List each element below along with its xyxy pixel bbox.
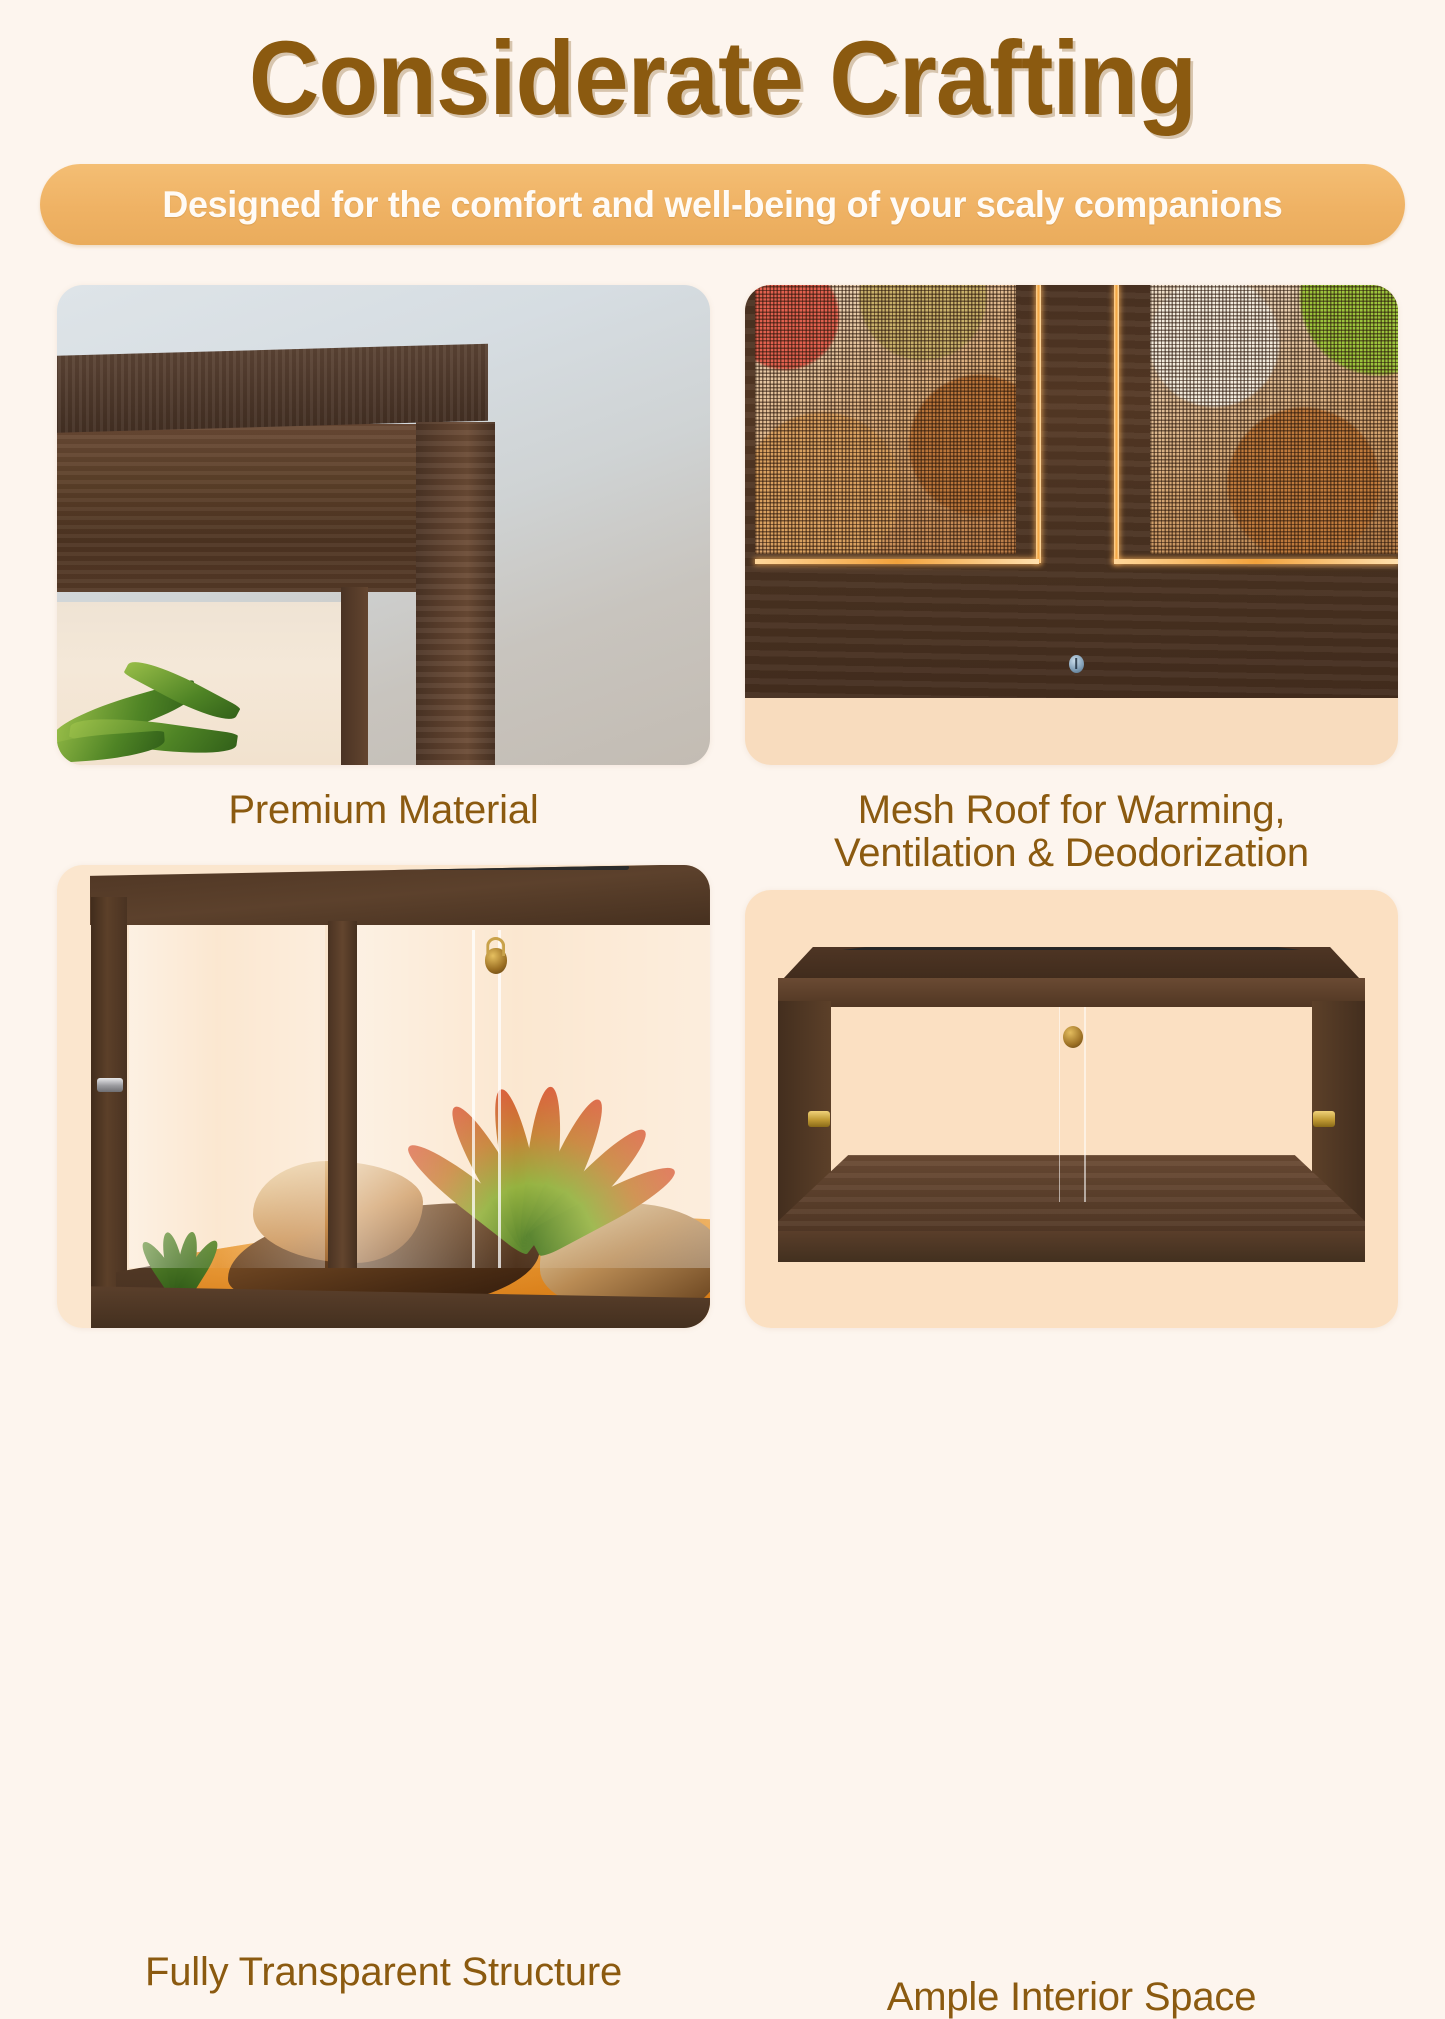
screw-icon — [1069, 655, 1084, 673]
page-title: Considerate Crafting — [51, 26, 1395, 131]
feature-panel-premium-material: Premium Material — [57, 285, 710, 765]
glass-door-left[interactable] — [129, 925, 325, 1268]
terrarium-box — [778, 947, 1366, 1262]
subtitle-banner: Designed for the comfort and well-being … — [40, 164, 1405, 245]
hinge-icon — [97, 1078, 123, 1092]
hinge-icon-right — [1313, 1111, 1335, 1127]
left-frame-post — [91, 897, 127, 1328]
caption-mesh-roof: Mesh Roof for Warming, Ventilation & Deo… — [745, 789, 1398, 875]
caption-transparent-structure: Fully Transparent Structure — [57, 1951, 710, 1994]
photo-mesh-roof — [745, 285, 1398, 765]
caption-line-1: Mesh Roof for Warming, — [858, 788, 1286, 832]
feature-panel-transparent-structure: Fully Transparent Structure — [57, 865, 710, 1328]
frame-edge-highlight — [1114, 559, 1398, 564]
glass-door-seam — [498, 930, 501, 1268]
glass-door-seam — [1059, 1007, 1061, 1203]
bottom-frame-rail — [778, 1231, 1366, 1263]
wood-inner-leg — [341, 587, 368, 765]
hinge-icon-left — [808, 1111, 830, 1127]
glass-door-seam — [1084, 1007, 1086, 1203]
feature-panel-mesh-roof: Mesh Roof for Warming, Ventilation & Deo… — [745, 285, 1398, 765]
wood-corner-post — [416, 422, 494, 765]
frame-edge-highlight — [755, 559, 1039, 564]
lock-knob-icon[interactable] — [1063, 1026, 1083, 1048]
wood-top-panel — [57, 344, 488, 433]
mesh-screen-left — [755, 285, 1016, 554]
center-frame-post — [328, 921, 357, 1268]
feature-panel-ample-interior: Ample Interior Space — [745, 890, 1398, 1328]
glass-door-right[interactable] — [357, 925, 710, 1268]
green-plant — [57, 659, 305, 765]
feature-grid: Premium Material Mesh Roof for Warming, … — [0, 262, 1445, 1445]
lock-icon[interactable] — [485, 948, 507, 974]
photo-premium-material — [57, 285, 710, 765]
photo-transparent-structure — [57, 865, 710, 1328]
caption-ample-interior: Ample Interior Space — [745, 1976, 1398, 2019]
photo-ample-interior — [745, 890, 1398, 1328]
mesh-weave-texture — [1150, 285, 1398, 554]
frame-edge-highlight — [1114, 285, 1119, 563]
caption-line-2: Ventilation & Deodorization — [834, 831, 1309, 875]
top-mesh-insert — [842, 947, 1300, 950]
top-front-rail — [778, 978, 1366, 1006]
mesh-weave-texture — [755, 285, 1016, 554]
header: Considerate Crafting Designed for the co… — [0, 0, 1445, 262]
subtitle-text: Designed for the comfort and well-being … — [162, 184, 1282, 226]
glass-door-seam — [472, 930, 475, 1268]
caption-premium-material: Premium Material — [57, 789, 710, 832]
frame-edge-highlight — [1036, 285, 1041, 563]
mesh-screen-right — [1150, 285, 1398, 554]
